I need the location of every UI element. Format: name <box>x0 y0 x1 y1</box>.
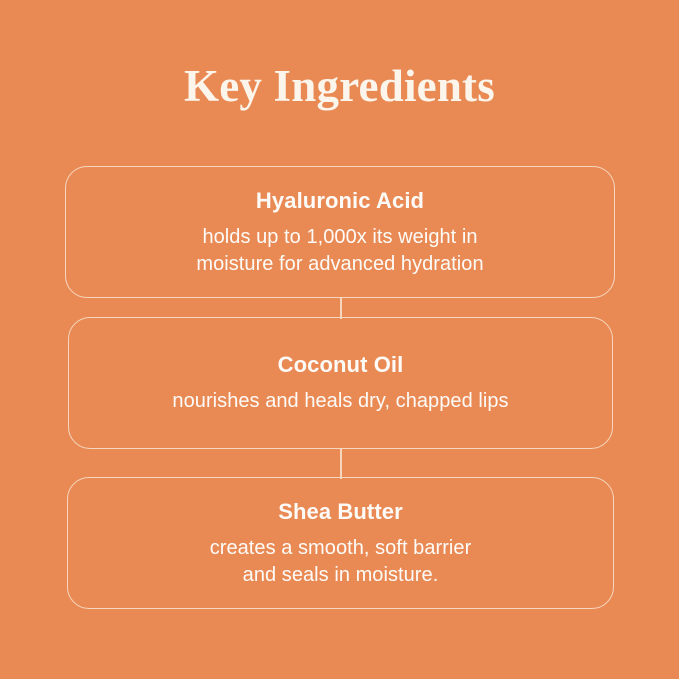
ingredient-name: Shea Butter <box>278 498 403 526</box>
ingredient-card-shea-butter[interactable]: Shea Butter creates a smooth, soft barri… <box>67 477 614 609</box>
connector-line-1 <box>340 297 342 319</box>
page-title: Key Ingredients <box>0 60 679 112</box>
ingredient-card-stack: Hyaluronic Acid holds up to 1,000x its w… <box>0 166 679 609</box>
ingredient-name: Hyaluronic Acid <box>256 187 424 215</box>
key-ingredients-infographic: Key Ingredients Hyaluronic Acid holds up… <box>0 0 679 679</box>
ingredient-description: creates a smooth, soft barrier and seals… <box>210 535 472 589</box>
connector-line-2 <box>340 449 342 479</box>
description-line: creates a smooth, soft barrier <box>210 535 472 562</box>
ingredient-card-coconut-oil[interactable]: Coconut Oil nourishes and heals dry, cha… <box>68 317 613 449</box>
description-line: and seals in moisture. <box>210 562 472 589</box>
ingredient-description: holds up to 1,000x its weight in moistur… <box>196 224 483 278</box>
description-line: moisture for advanced hydration <box>196 251 483 278</box>
ingredient-card-hyaluronic-acid[interactable]: Hyaluronic Acid holds up to 1,000x its w… <box>65 166 615 298</box>
ingredient-description: nourishes and heals dry, chapped lips <box>172 388 508 415</box>
description-line: holds up to 1,000x its weight in <box>196 224 483 251</box>
ingredient-name: Coconut Oil <box>278 351 404 379</box>
description-line: nourishes and heals dry, chapped lips <box>172 388 508 415</box>
